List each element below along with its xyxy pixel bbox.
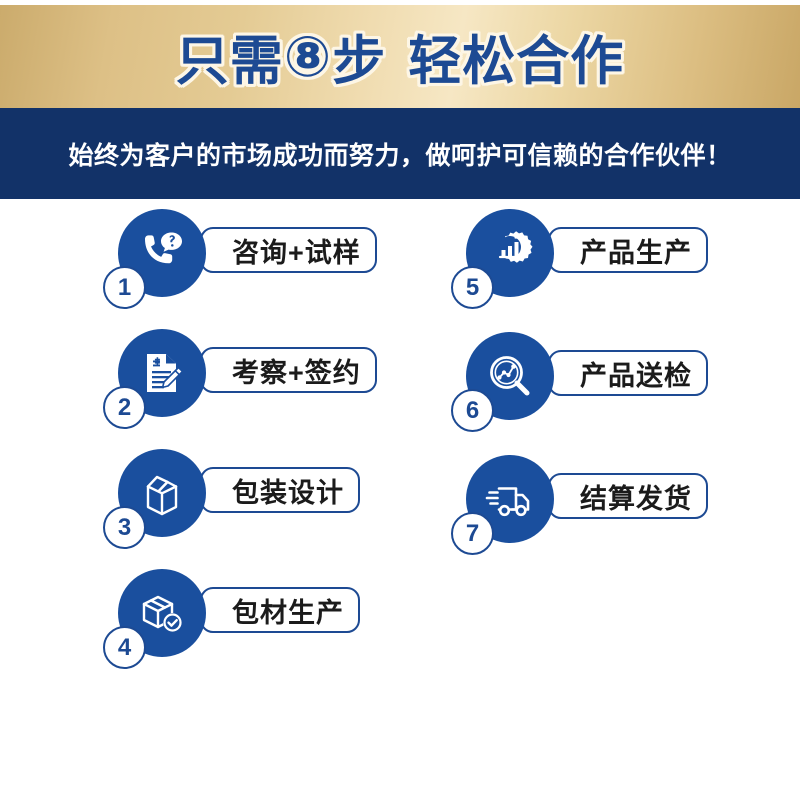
phone-question-icon [134, 225, 190, 281]
step-number-badge-6: 6 [451, 389, 494, 432]
step-label-box-1: 咨询+试样 [200, 227, 377, 273]
step-item-4[interactable]: 包材生产 4 [100, 559, 400, 679]
gear-chart-icon [482, 225, 538, 281]
header: 只需⑧步轻松合作 始终为客户的市场成功而努力，做呵护可信赖的合作伙伴！ [0, 0, 800, 199]
step-label-box-6: 产品送检 [548, 350, 708, 396]
step-label-box-7: 结算发货 [548, 473, 708, 519]
step-item-7[interactable]: 结算发货 7 [448, 445, 748, 568]
box-check-icon [134, 585, 190, 641]
step-number-badge-3: 3 [103, 506, 146, 549]
subtitle-text: 始终为客户的市场成功而努力，做呵护可信赖的合作伙伴！ [68, 136, 731, 172]
step-label-text-7: 结算发货 [580, 477, 692, 516]
steps-grid: 咨询+试样 1 考察+签约 [0, 199, 800, 795]
step-item-2[interactable]: 考察+签约 2 [100, 319, 400, 439]
magnifier-molecule-icon [482, 348, 538, 404]
step-label-text-5: 产品生产 [580, 231, 692, 270]
page-title-part3: 轻松合作 [408, 19, 624, 95]
open-box-icon [134, 465, 190, 521]
step-number-badge-7: 7 [451, 512, 494, 555]
step-label-text-6: 产品送检 [580, 354, 692, 393]
step-number-badge-4: 4 [103, 626, 146, 669]
circled-eight-icon: ⑧ [284, 24, 332, 90]
delivery-truck-icon [482, 471, 538, 527]
step-item-1[interactable]: 咨询+试样 1 [100, 199, 400, 319]
step-item-6[interactable]: 产品送检 6 [448, 322, 748, 445]
step-label-text-3: 包装设计 [232, 471, 344, 510]
contract-pen-icon [134, 345, 190, 401]
step-label-box-5: 产品生产 [548, 227, 708, 273]
page-title: 只需⑧步轻松合作 [0, 5, 800, 108]
step-label-text-1: 咨询+试样 [232, 231, 361, 270]
step-label-box-2: 考察+签约 [200, 347, 377, 393]
step-label-box-4: 包材生产 [200, 587, 360, 633]
steps-right-column: 产品生产 5 产品送检 [448, 199, 748, 568]
step-number-badge-2: 2 [103, 386, 146, 429]
steps-left-column: 咨询+试样 1 考察+签约 [100, 199, 400, 679]
step-label-text-2: 考察+签约 [232, 351, 361, 390]
page-title-part1: 只需 [176, 19, 284, 95]
step-item-3[interactable]: 包装设计 3 [100, 439, 400, 559]
step-label-box-3: 包装设计 [200, 467, 360, 513]
step-number-badge-5: 5 [451, 266, 494, 309]
page-title-part2: 步 [332, 19, 386, 95]
step-number-badge-1: 1 [103, 266, 146, 309]
step-label-text-4: 包材生产 [232, 591, 344, 630]
step-item-5[interactable]: 产品生产 5 [448, 199, 748, 322]
subtitle-banner: 始终为客户的市场成功而努力，做呵护可信赖的合作伙伴！ [0, 108, 800, 199]
